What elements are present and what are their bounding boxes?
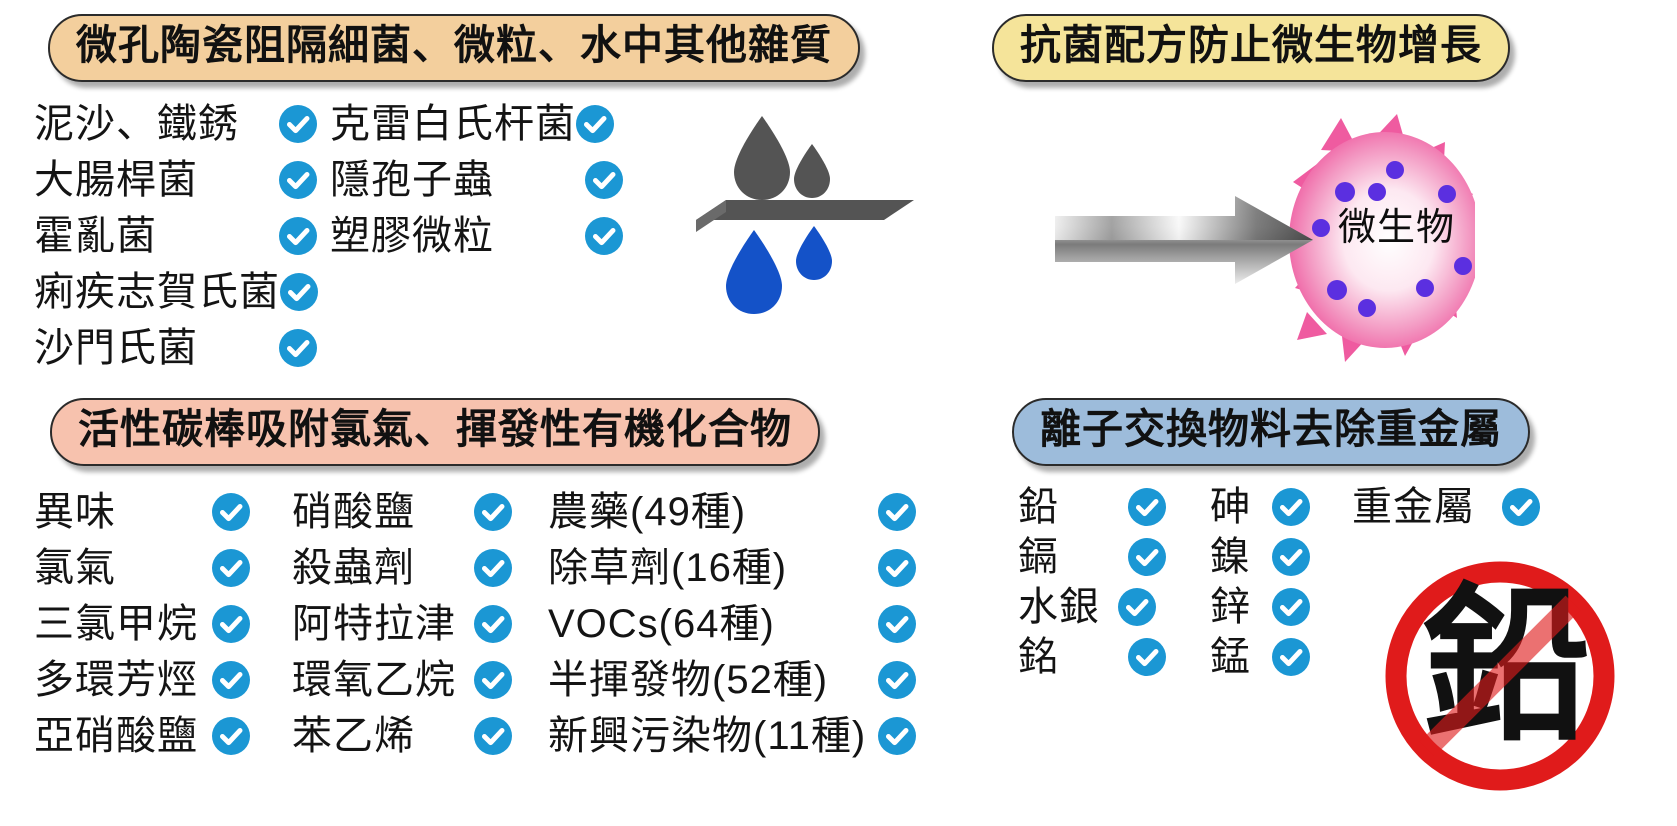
list-item: 水銀 xyxy=(1018,582,1166,632)
list-item: 多環芳烴 xyxy=(34,652,250,708)
check-icon xyxy=(1502,488,1540,526)
list-item-label: 多環芳烴 xyxy=(34,660,212,700)
list-item: 沙門氏菌 xyxy=(34,320,318,376)
list-item: 氯氣 xyxy=(34,540,250,596)
carbon-list-column-a: 異味 氯氣 三氯甲烷 多環芳烴 亞硝酸鹽 xyxy=(34,484,250,764)
list-item-label: 霍亂菌 xyxy=(34,216,279,256)
check-icon xyxy=(212,493,250,531)
list-item-label: 鎳 xyxy=(1210,537,1272,577)
check-icon xyxy=(878,493,916,531)
list-item-label: 鉛 xyxy=(1018,487,1128,527)
check-icon xyxy=(279,161,317,199)
microbe-label: 微生物 xyxy=(1338,196,1455,251)
list-item: 大腸桿菌 xyxy=(34,152,318,208)
list-item: 隱孢子蟲 xyxy=(318,152,623,208)
list-item: 錳 xyxy=(1166,632,1310,682)
list-item-label: 塑膠微粒 xyxy=(330,216,585,256)
check-icon xyxy=(279,329,317,367)
check-icon xyxy=(878,605,916,643)
list-item: 銘 xyxy=(1018,632,1166,682)
check-icon xyxy=(1272,488,1310,526)
carbon-list-column-b: 硝酸鹽 殺蟲劑 阿特拉津 環氧乙烷 苯乙烯 xyxy=(250,484,512,764)
check-icon xyxy=(878,717,916,755)
list-item: 異味 xyxy=(34,484,250,540)
list-item-label: 沙門氏菌 xyxy=(34,328,279,368)
list-item-label: 硝酸鹽 xyxy=(292,492,474,532)
check-icon xyxy=(576,105,614,143)
list-item: 硝酸鹽 xyxy=(250,484,512,540)
list-item-label: 三氯甲烷 xyxy=(34,604,212,644)
list-item-label: 痢疾志賀氏菌 xyxy=(34,272,280,312)
check-icon xyxy=(474,661,512,699)
check-icon xyxy=(212,605,250,643)
list-item: 亞硝酸鹽 xyxy=(34,708,250,764)
list-item-label: 異味 xyxy=(34,492,212,532)
section-title-porous-ceramic: 微孔陶瓷阻隔細菌、微粒、水中其他雜質 xyxy=(48,14,860,82)
list-item: 殺蟲劑 xyxy=(250,540,512,596)
check-icon xyxy=(585,217,623,255)
section-carbon-block: 活性碳棒吸附氯氣、揮發性有機化合物 異味 氯氣 三氯甲烷 多環芳烴 亞硝酸鹽 xyxy=(34,398,916,764)
list-item-label: 錳 xyxy=(1210,637,1272,677)
check-icon xyxy=(1128,488,1166,526)
list-item-label: 農藥(49種) xyxy=(548,492,878,532)
check-icon xyxy=(474,549,512,587)
list-item-label: 殺蟲劑 xyxy=(292,548,474,588)
check-icon xyxy=(1272,638,1310,676)
list-item: 重金屬 xyxy=(1310,482,1540,532)
check-icon xyxy=(212,717,250,755)
check-icon xyxy=(212,661,250,699)
check-icon xyxy=(474,605,512,643)
carbon-list-column-c: 農藥(49種) 除草劑(16種) VOCs(64種) 半揮發物(52種) 新興污… xyxy=(512,484,916,764)
list-item: 新興污染物(11種) xyxy=(512,708,916,764)
list-item-label: 水銀 xyxy=(1018,587,1118,627)
list-item-label: 重金屬 xyxy=(1352,487,1502,527)
list-item-label: 鎘 xyxy=(1018,537,1128,577)
check-icon xyxy=(1272,538,1310,576)
check-icon xyxy=(279,105,317,143)
water-drops-icon xyxy=(690,108,920,323)
list-item-label: 苯乙烯 xyxy=(292,716,474,756)
list-item-label: 銘 xyxy=(1018,637,1128,677)
list-item: 三氯甲烷 xyxy=(34,596,250,652)
list-item: 鎘 xyxy=(1018,532,1166,582)
list-item-label: 砷 xyxy=(1210,487,1272,527)
list-item: 鎳 xyxy=(1166,532,1310,582)
no-lead-icon: 鉛 xyxy=(1380,556,1620,796)
check-icon xyxy=(1128,538,1166,576)
ion-list-column-a: 鉛 鎘 水銀 銘 xyxy=(1018,482,1166,682)
check-icon xyxy=(1272,588,1310,626)
list-item: 環氧乙烷 xyxy=(250,652,512,708)
list-item-label: 氯氣 xyxy=(34,548,212,588)
check-icon xyxy=(878,549,916,587)
list-item: 塑膠微粒 xyxy=(318,208,623,264)
list-item: 阿特拉津 xyxy=(250,596,512,652)
list-item: 砷 xyxy=(1166,482,1310,532)
list-item: 痢疾志賀氏菌 xyxy=(34,264,318,320)
list-item: 除草劑(16種) xyxy=(512,540,916,596)
check-icon xyxy=(1118,588,1156,626)
check-icon xyxy=(585,161,623,199)
ion-list-column-b: 砷 鎳 鋅 錳 xyxy=(1166,482,1310,682)
check-icon xyxy=(474,717,512,755)
list-item: 鋅 xyxy=(1166,582,1310,632)
list-item-label: 新興污染物(11種) xyxy=(548,716,878,756)
check-icon xyxy=(212,549,250,587)
list-item: 農藥(49種) xyxy=(512,484,916,540)
ceramic-list-column-a: 泥沙、鐵銹 大腸桿菌 霍亂菌 痢疾志賀氏菌 沙門氏菌 xyxy=(34,96,318,376)
list-item-label: 半揮發物(52種) xyxy=(548,660,878,700)
list-item-label: 亞硝酸鹽 xyxy=(34,716,212,756)
list-item-label: 鋅 xyxy=(1210,587,1272,627)
list-item: 鉛 xyxy=(1018,482,1166,532)
list-item-label: 環氧乙烷 xyxy=(292,660,474,700)
section-title-antibacterial: 抗菌配方防止微生物增長 xyxy=(992,14,1510,82)
list-item: VOCs(64種) xyxy=(512,596,916,652)
list-item-label: 泥沙、鐵銹 xyxy=(34,104,279,144)
list-item-label: 克雷白氏杆菌 xyxy=(330,104,576,144)
list-item: 苯乙烯 xyxy=(250,708,512,764)
ceramic-list-column-b: 克雷白氏杆菌 隱孢子蟲 塑膠微粒 xyxy=(318,96,623,376)
list-item: 泥沙、鐵銹 xyxy=(34,96,318,152)
list-item-label: VOCs(64種) xyxy=(548,604,878,644)
list-item-label: 大腸桿菌 xyxy=(34,160,279,200)
list-item: 克雷白氏杆菌 xyxy=(318,96,623,152)
list-item-label: 阿特拉津 xyxy=(292,604,474,644)
list-item: 半揮發物(52種) xyxy=(512,652,916,708)
section-title-ion-exchange: 離子交換物料去除重金屬 xyxy=(1012,398,1530,466)
check-icon xyxy=(878,661,916,699)
list-item-label: 除草劑(16種) xyxy=(548,548,878,588)
list-item: 霍亂菌 xyxy=(34,208,318,264)
check-icon xyxy=(474,493,512,531)
section-title-carbon-block: 活性碳棒吸附氯氣、揮發性有機化合物 xyxy=(50,398,820,466)
check-icon xyxy=(279,217,317,255)
section-antibacterial: 抗菌配方防止微生物增長 xyxy=(992,14,1510,82)
check-icon xyxy=(280,273,318,311)
list-item-label: 隱孢子蟲 xyxy=(330,160,585,200)
check-icon xyxy=(1128,638,1166,676)
